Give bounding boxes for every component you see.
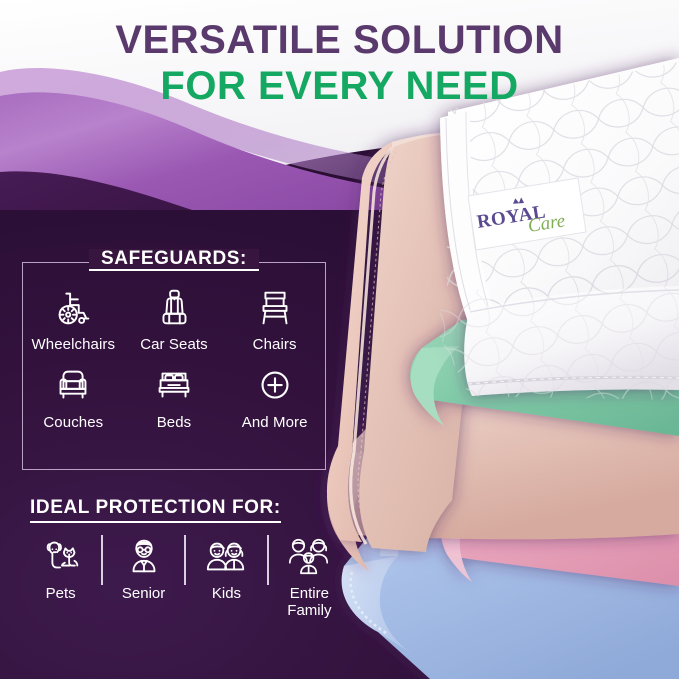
safeguards-panel: SAFEGUARDS:: [22, 262, 326, 470]
ideal-item-pets: Pets: [20, 533, 101, 602]
ideal-item-label: Kids: [212, 585, 241, 602]
senior-icon: [121, 533, 167, 579]
pets-icon: [38, 533, 84, 579]
ideal-protection-row: Pets Senior: [20, 533, 350, 643]
ideal-item-label: Senior: [122, 585, 165, 602]
ideal-protection-title: IDEAL PROTECTION FOR:: [30, 497, 281, 523]
safeguards-title: SAFEGUARDS:: [23, 249, 325, 271]
chair-icon: [252, 285, 298, 331]
ideal-item-label: Entire Family: [269, 585, 350, 619]
headline: VERSATILE SOLUTION FOR EVERY NEED: [0, 18, 679, 108]
ideal-item-label: Pets: [46, 585, 76, 602]
safeguard-label: Wheelchairs: [32, 336, 116, 353]
bed-icon: [151, 363, 197, 409]
safeguard-label: And More: [242, 414, 308, 431]
safeguard-label: Chairs: [253, 336, 297, 353]
ideal-item-kids: Kids: [186, 533, 267, 602]
safeguard-item-couches: Couches: [23, 363, 124, 431]
ideal-protection-title-text: IDEAL PROTECTION FOR:: [30, 497, 281, 523]
safeguards-grid: Wheelchairs Car Seats: [23, 285, 325, 431]
poster-canvas: VERSATILE SOLUTION FOR EVERY NEED: [0, 0, 679, 679]
safeguard-item-wheelchairs: Wheelchairs: [23, 285, 124, 353]
couch-icon: [50, 363, 96, 409]
family-icon: [286, 533, 332, 579]
safeguard-item-car-seats: Car Seats: [124, 285, 225, 353]
ideal-item-entire-family: Entire Family: [269, 533, 350, 619]
ideal-item-senior: Senior: [103, 533, 184, 602]
safeguard-item-chairs: Chairs: [224, 285, 325, 353]
car-seat-icon: [151, 285, 197, 331]
safeguard-item-beds: Beds: [124, 363, 225, 431]
headline-line-1: VERSATILE SOLUTION: [0, 18, 679, 62]
headline-line-2: FOR EVERY NEED: [0, 64, 679, 108]
safeguard-label: Beds: [157, 414, 192, 431]
safeguards-title-text: SAFEGUARDS:: [89, 249, 259, 271]
safeguard-label: Couches: [43, 414, 103, 431]
safeguard-label: Car Seats: [140, 336, 208, 353]
kids-icon: [203, 533, 249, 579]
safeguard-item-and-more: And More: [224, 363, 325, 431]
wheelchair-icon: [50, 285, 96, 331]
plus-circle-icon: [252, 363, 298, 409]
